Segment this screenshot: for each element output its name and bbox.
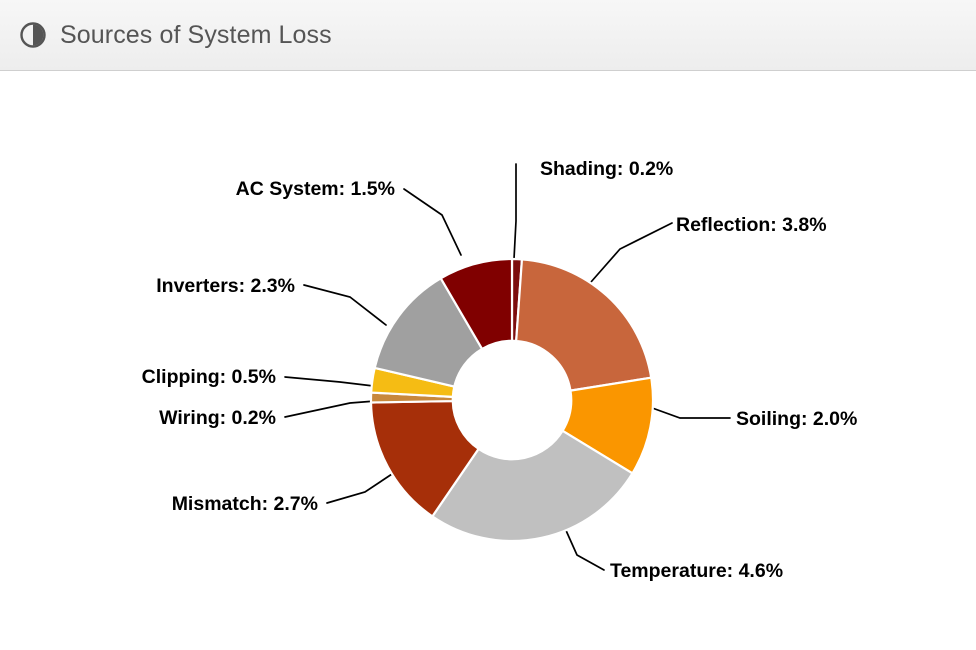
donut-slice-reflection[interactable]: [516, 259, 651, 390]
slice-label-ac-system: AC System: 1.5%: [236, 178, 395, 200]
chart-area: Shading: 0.2%Reflection: 3.8%Soiling: 2.…: [0, 71, 976, 650]
leader-line-clipping: [285, 377, 382, 387]
slice-label-clipping: Clipping: 0.5%: [142, 366, 276, 388]
system-loss-donut-chart: Shading: 0.2%Reflection: 3.8%Soiling: 2.…: [0, 71, 976, 650]
contrast-half-circle-icon: [20, 22, 46, 48]
panel-header: Sources of System Loss: [0, 0, 976, 71]
slice-label-inverters: Inverters: 2.3%: [156, 275, 295, 297]
leader-line-inverters: [304, 285, 386, 325]
slice-label-soiling: Soiling: 2.0%: [736, 408, 857, 430]
slice-label-reflection: Reflection: 3.8%: [676, 214, 827, 236]
slice-label-shading: Shading: 0.2%: [540, 158, 673, 180]
leader-line-ac-system: [404, 189, 461, 255]
donut-slice-group: [371, 259, 653, 541]
leader-line-reflection: [591, 223, 672, 282]
slice-label-wiring: Wiring: 0.2%: [159, 407, 276, 429]
leader-line-soiling: [644, 405, 730, 418]
page-title: Sources of System Loss: [60, 21, 332, 50]
slice-label-mismatch: Mismatch: 2.7%: [172, 493, 318, 515]
leader-line-mismatch: [327, 474, 392, 503]
slice-label-temperature: Temperature: 4.6%: [610, 560, 783, 582]
